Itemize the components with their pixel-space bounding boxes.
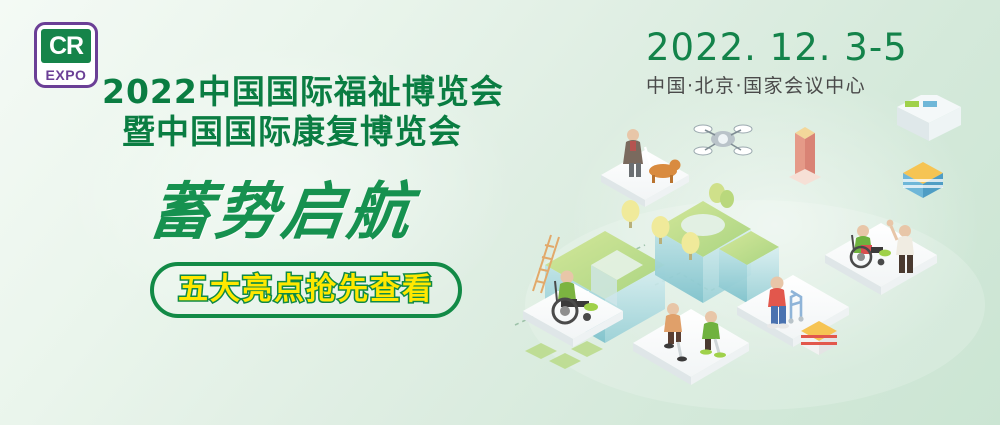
- obelisk-tower: [789, 127, 821, 185]
- isometric-illustration: [505, 95, 1000, 415]
- highlights-cta-button[interactable]: 五大亮点抢先查看: [150, 262, 462, 318]
- exhibit-rack: [897, 95, 961, 141]
- title-line-1: 2022中国国际福祉博览会: [96, 72, 566, 112]
- stacked-boxes-a: [903, 162, 943, 198]
- slogan-text: 蓄势启航: [146, 176, 419, 248]
- logo-sub-text: EXPO: [46, 68, 87, 82]
- page-title: 2022中国国际福祉博览会 暨中国国际康复博览会: [96, 72, 566, 152]
- cr-expo-logo[interactable]: CR EXPO: [34, 22, 98, 88]
- promo-banner: CR EXPO 2022中国国际福祉博览会 暨中国国际康复博览会 蓄势启航 五大…: [0, 0, 1000, 425]
- highlights-cta-label: 五大亮点抢先查看: [178, 275, 434, 305]
- logo-mark: CR: [41, 29, 91, 63]
- logo-mark-text: CR: [49, 34, 83, 59]
- platform-guide-dog: [601, 150, 689, 207]
- drone-icon: [694, 125, 752, 155]
- event-date: 2022. 12. 3-5: [646, 26, 908, 70]
- title-line-2: 暨中国国际康复博览会: [96, 112, 566, 152]
